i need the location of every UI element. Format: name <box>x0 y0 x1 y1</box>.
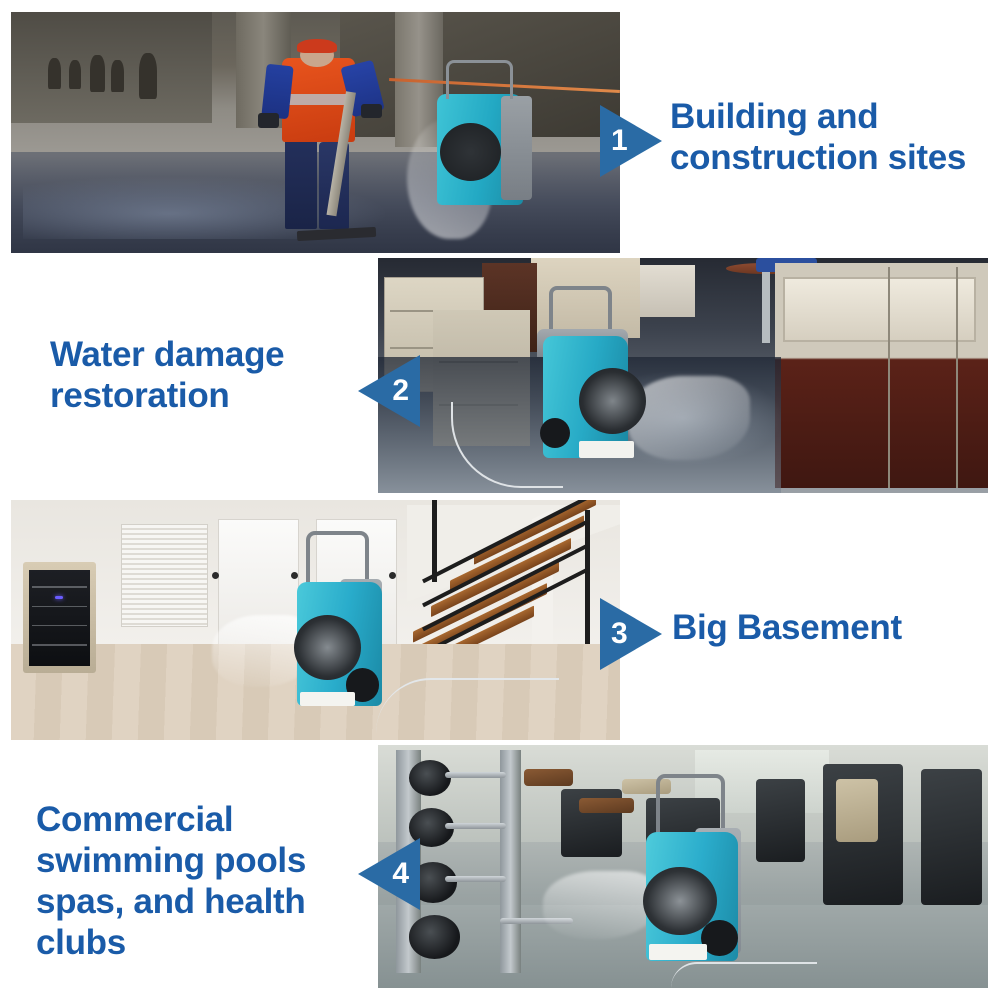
step-number-4: 4 <box>358 838 420 910</box>
basement-photo <box>11 500 620 740</box>
step-number-1: 1 <box>600 105 662 177</box>
step-marker-4: 4 <box>358 838 420 910</box>
caption-2: Water damage restoration <box>50 335 350 417</box>
caption-4: Commercial swimming pools spas, and heal… <box>36 800 356 964</box>
step-marker-2: 2 <box>358 355 420 427</box>
caption-2-line-2: restoration <box>50 376 350 417</box>
step-marker-1: 1 <box>600 105 662 177</box>
caption-3-line-1: Big Basement <box>672 608 992 649</box>
caption-2-line-1: Water damage <box>50 335 350 376</box>
step-number-3: 3 <box>600 598 662 670</box>
caption-1-line-1: Building and <box>670 97 990 138</box>
caption-4-line-2: swimming pools <box>36 841 356 882</box>
flooded-office-photo <box>378 258 988 493</box>
caption-1: Building and construction sites <box>670 97 990 179</box>
caption-1-line-2: construction sites <box>670 138 990 179</box>
infographic-canvas: 1 Building and construction sites 2 <box>0 0 1000 1000</box>
caption-3: Big Basement <box>672 608 992 649</box>
caption-4-line-1: Commercial <box>36 800 356 841</box>
gym-photo <box>378 745 988 988</box>
step-marker-3: 3 <box>600 598 662 670</box>
step-number-2: 2 <box>358 355 420 427</box>
caption-4-line-3: spas, and health <box>36 882 356 923</box>
caption-4-line-4: clubs <box>36 923 356 964</box>
construction-site-photo <box>11 12 620 253</box>
